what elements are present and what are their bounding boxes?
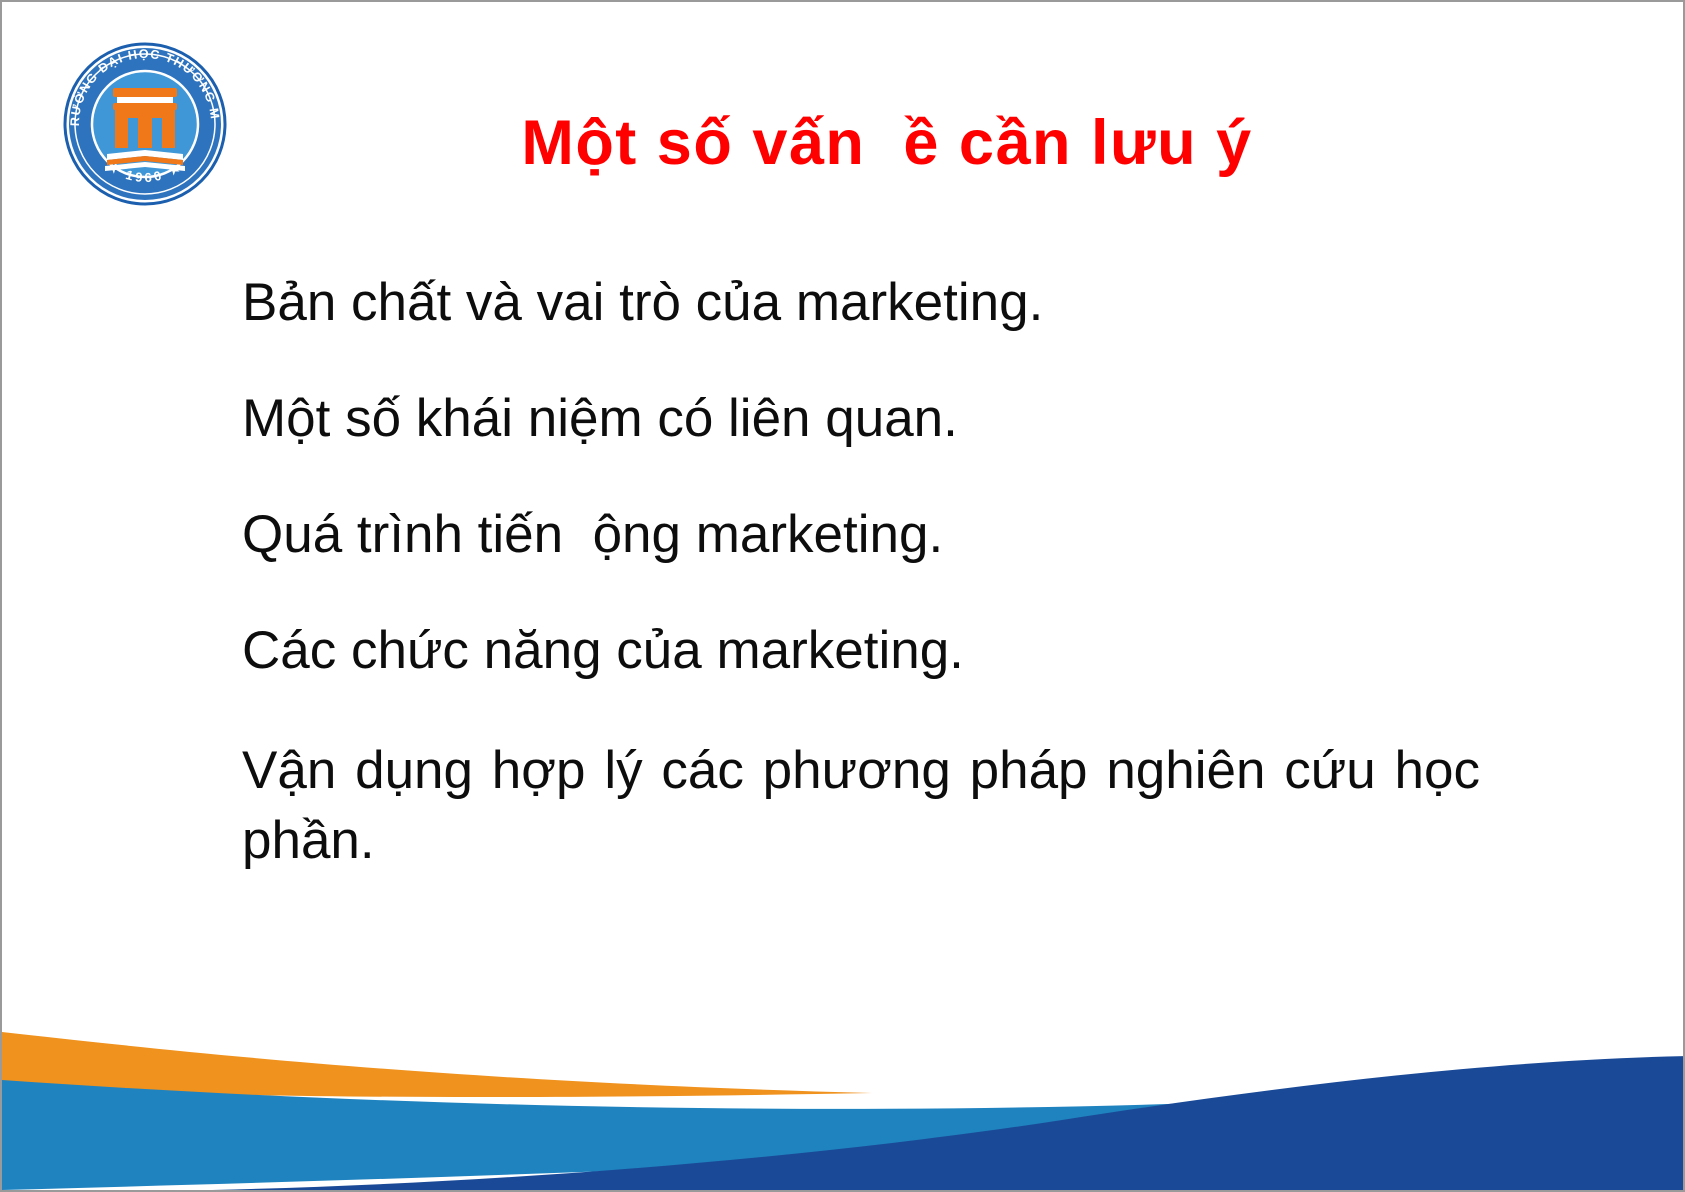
slide-body: Bản chất và vai trò của marketing. Một s… xyxy=(242,272,1480,876)
footer-wave-decoration xyxy=(2,960,1685,1190)
body-line: Quá trình tiến ộng marketing. xyxy=(242,504,1480,566)
body-line: Một số khái niệm có liên quan. xyxy=(242,388,1480,450)
body-line: Vận dụng hợp lý các phương pháp nghiên c… xyxy=(242,736,1480,876)
slide-canvas: TRƯỜNG ĐẠI HỌC THƯƠNG MẠI ★ 1960 ★ xyxy=(0,0,1685,1192)
body-line: Các chức năng của marketing. xyxy=(242,620,1480,682)
slide-title: Một số vấn ề cần lưu ý xyxy=(242,106,1532,180)
wave-orange-shape xyxy=(2,1032,872,1097)
body-line: Bản chất và vai trò của marketing. xyxy=(242,272,1480,334)
university-logo: TRƯỜNG ĐẠI HỌC THƯƠNG MẠI ★ 1960 ★ xyxy=(59,38,231,210)
